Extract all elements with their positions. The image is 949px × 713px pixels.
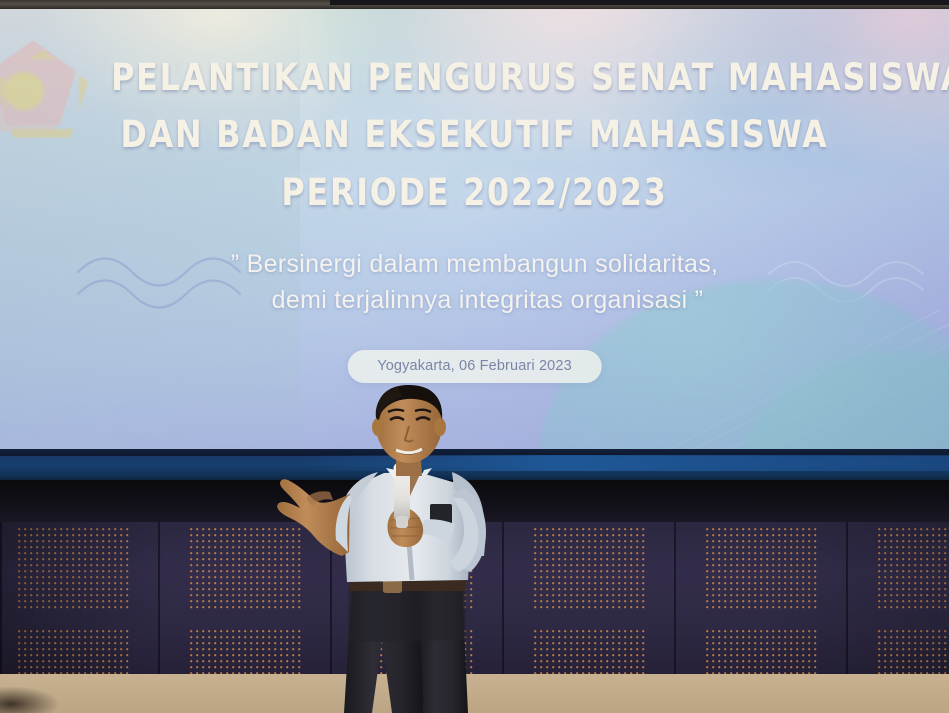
ceiling-bar-right [330, 0, 949, 5]
speaker-ear-right [434, 418, 446, 436]
microphone-grip [396, 516, 408, 528]
event-photograph: PELANTIKAN PENGURUS SENAT MAHASISWA DAN … [0, 0, 949, 713]
speaker-hip-shading [348, 585, 466, 642]
speaker-person [0, 0, 949, 713]
speaker-ear-left [372, 418, 384, 436]
